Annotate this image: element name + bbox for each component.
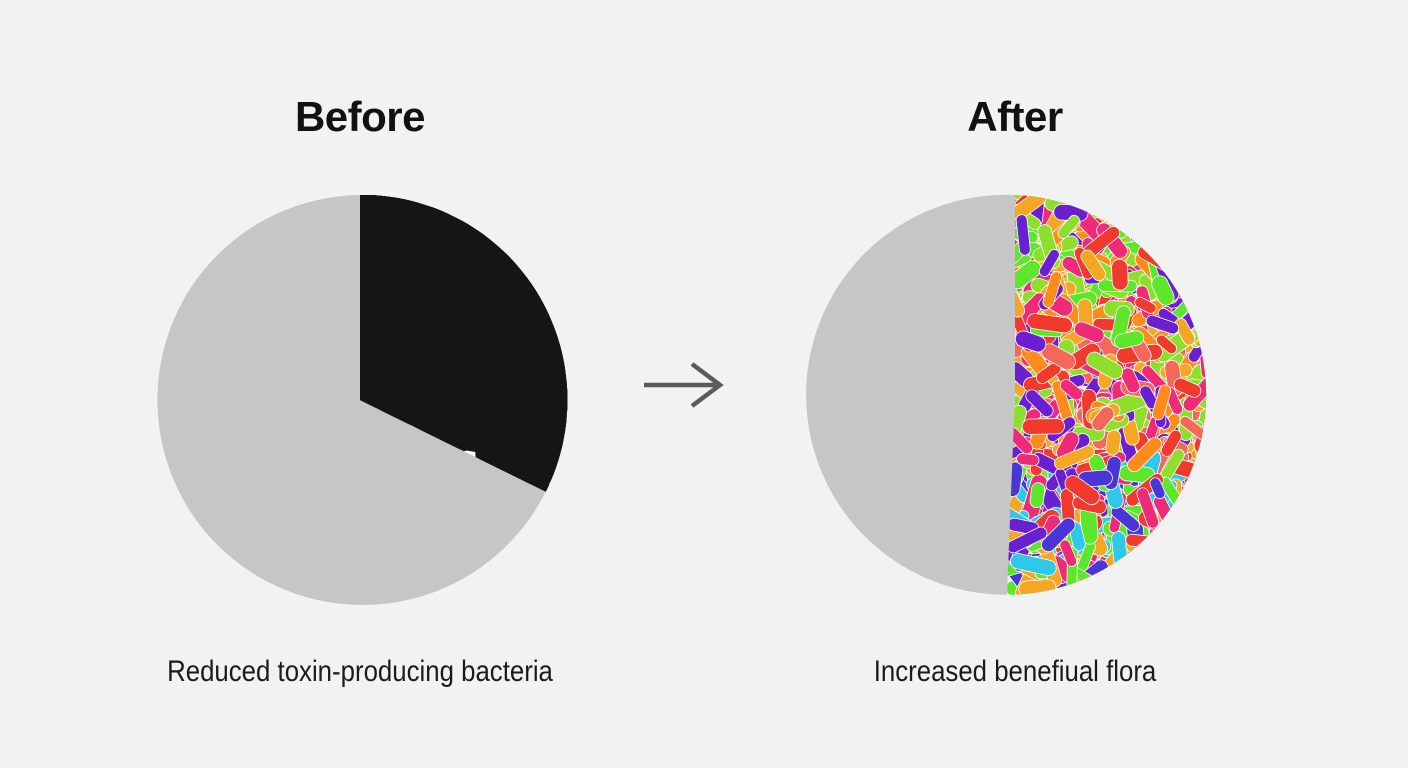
- pie-slice-remaining-gray: [806, 195, 1015, 595]
- pie-chart-after-svg: [745, 186, 1285, 616]
- pie-slice-beneficial-flora: [993, 186, 1230, 610]
- arrow-container: [630, 352, 740, 418]
- panel-after-title: After: [745, 96, 1285, 138]
- panel-before-caption: Reduced toxin-producing bacteria: [128, 655, 592, 688]
- panel-after-caption: Increased benefiual flora: [783, 655, 1247, 688]
- pie-chart-before: [90, 186, 630, 616]
- pie-chart-after: [745, 186, 1285, 616]
- panel-before-title: Before: [90, 96, 630, 138]
- infographic-stage: Before Reduced toxin-producing bacteria: [0, 0, 1408, 768]
- pie-chart-before-svg: [90, 186, 630, 616]
- panel-before: Before Reduced toxin-producing bacteria: [90, 0, 630, 768]
- panel-after: After Increased benefiual flora: [745, 0, 1285, 768]
- arrow-right-icon: [630, 352, 740, 418]
